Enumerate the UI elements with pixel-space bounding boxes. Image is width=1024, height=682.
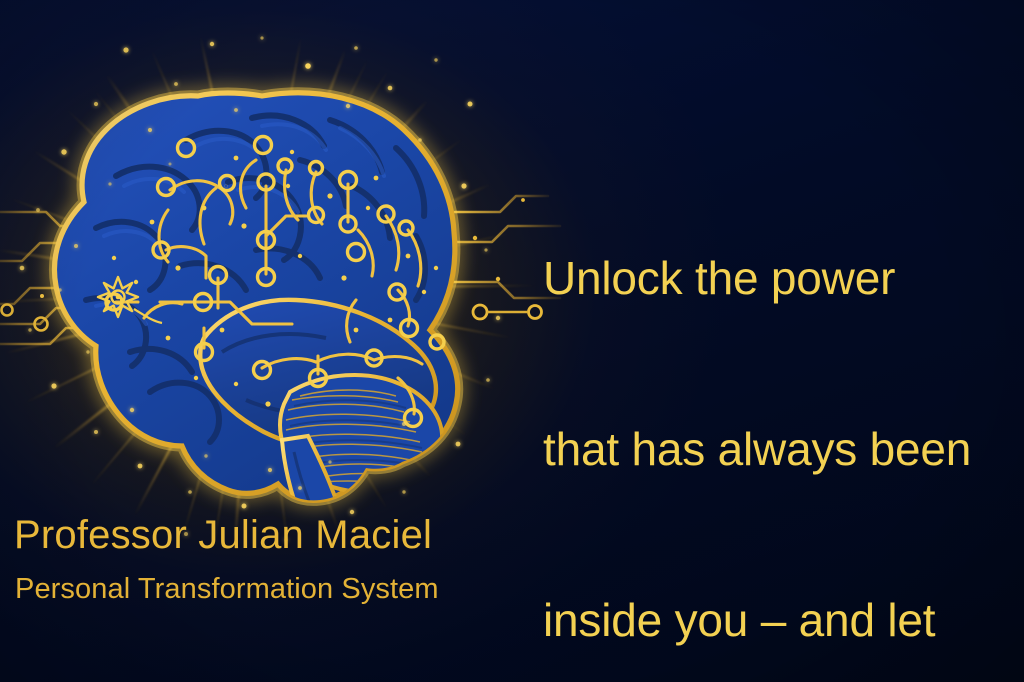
promotional-banner: Unlock the power that has always been in… xyxy=(0,0,1024,682)
headline-line-1: Unlock the power xyxy=(543,250,1013,307)
headline-line-3: inside you – and let xyxy=(543,592,1013,649)
program-subtitle: Personal Transformation System xyxy=(15,571,439,607)
presenter-name: Professor Julian Maciel xyxy=(14,511,432,559)
headline-line-2: that has always been xyxy=(543,421,1013,478)
headline-text: Unlock the power that has always been in… xyxy=(543,136,1013,682)
